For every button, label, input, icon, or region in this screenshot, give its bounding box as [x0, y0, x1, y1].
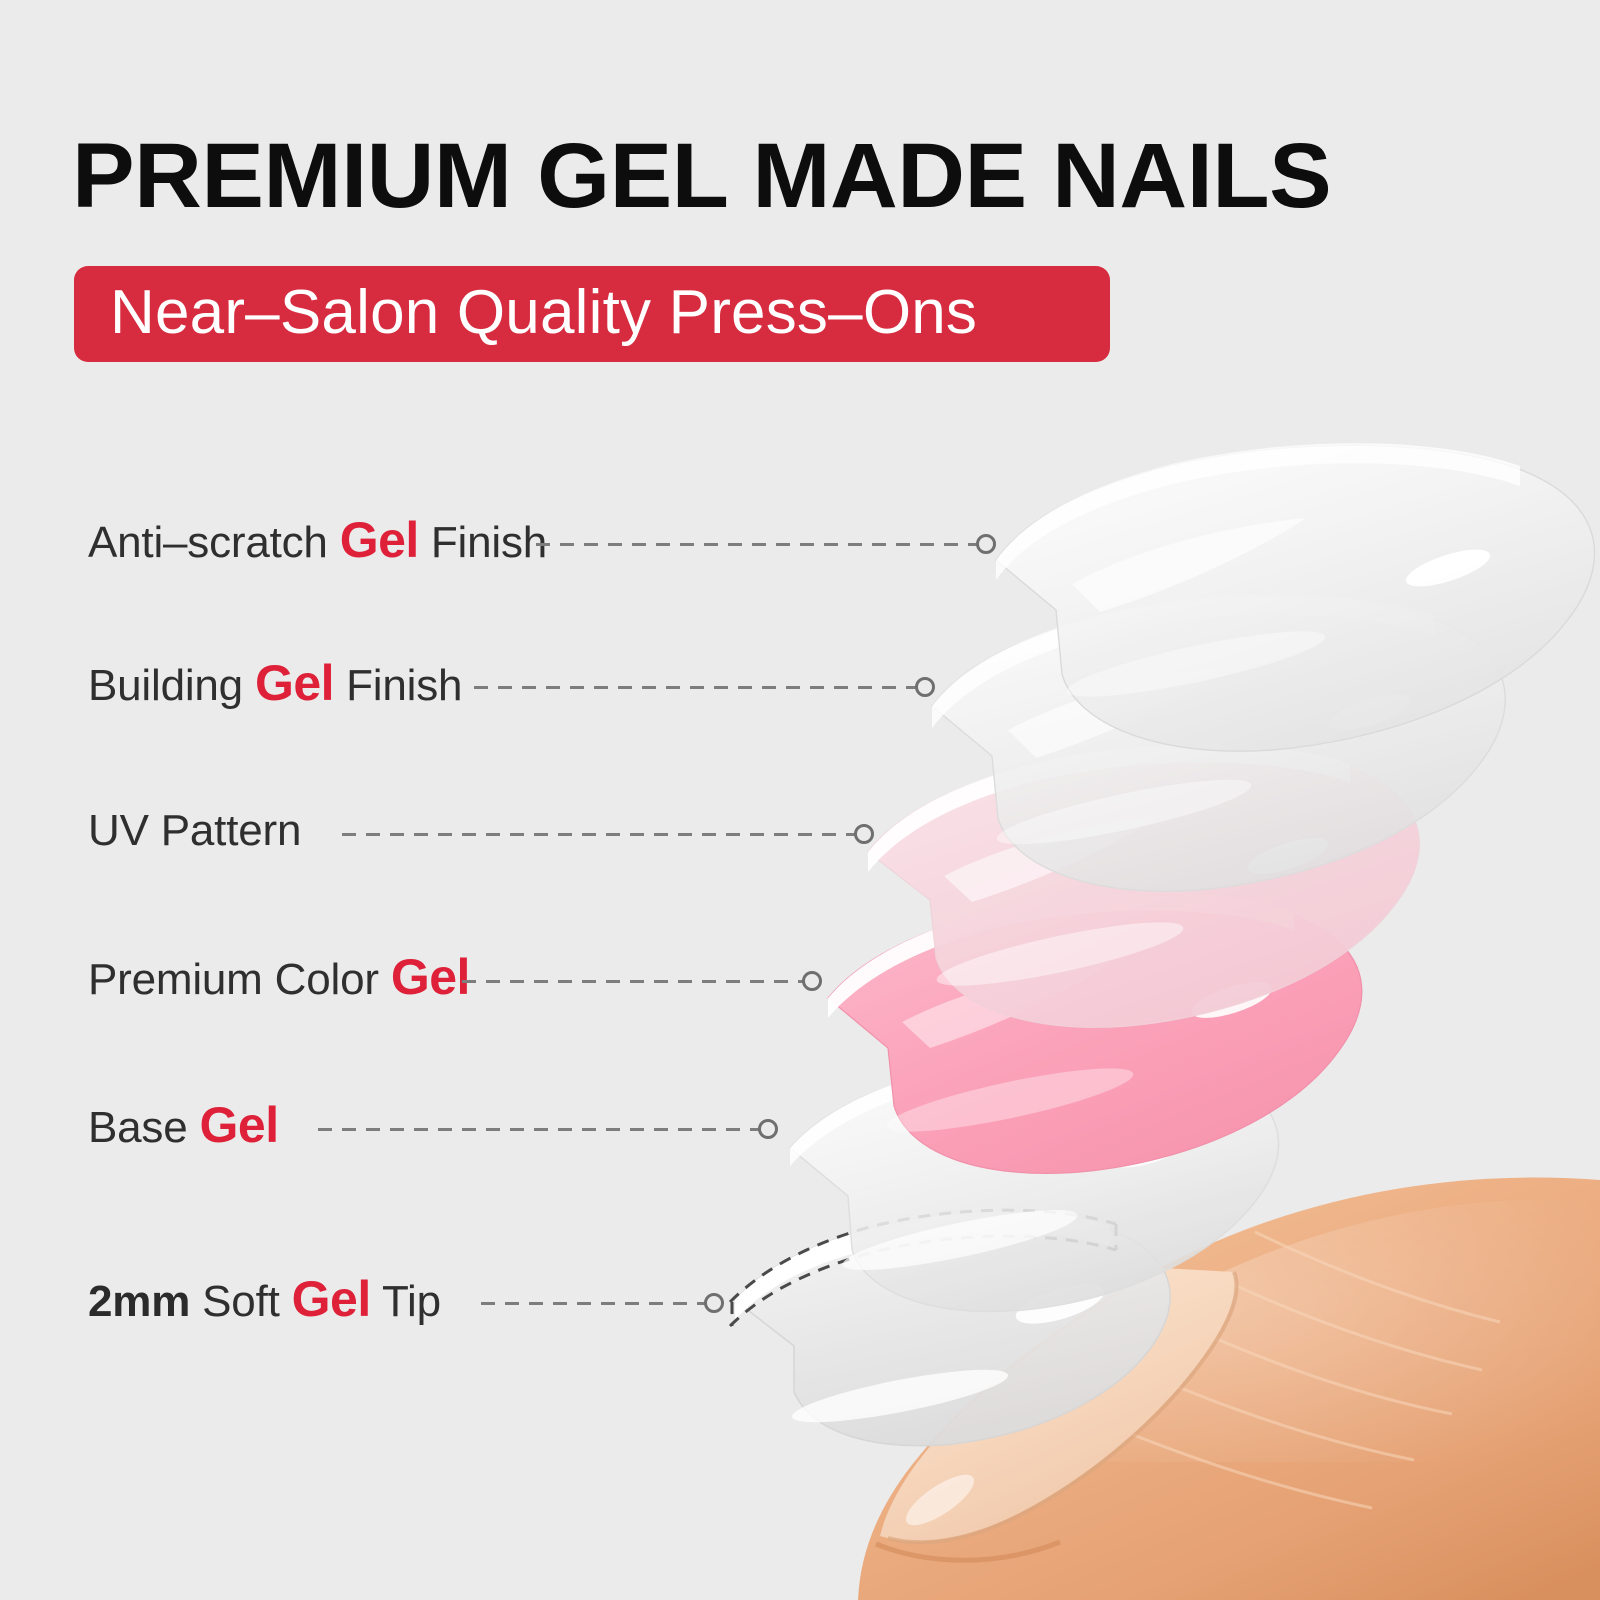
layer-premium-color-gel: [828, 893, 1362, 1174]
infographic-canvas: PREMIUM GEL MADE NAILS Near–Salon Qualit…: [0, 0, 1600, 1600]
label-part-regular: Tip: [371, 1277, 441, 1326]
leader-endpoint-soft-gel-tip: [704, 1293, 724, 1313]
layer-label-soft-gel-tip: 2mm Soft Gel Tip: [88, 1268, 441, 1332]
leader-line-building-gel: [474, 686, 917, 689]
label-part-regular: Finish: [419, 518, 547, 567]
label-part-gel: Gel: [340, 512, 419, 568]
label-part-gel: Gel: [255, 655, 334, 711]
leader-line-uv-pattern: [342, 833, 856, 836]
label-part-regular: Finish: [334, 661, 462, 710]
layer-label-text: Base Gel: [88, 1093, 279, 1160]
layer-anti-scratch-gel: [996, 443, 1595, 751]
leader-line-base-gel: [318, 1128, 760, 1131]
layer-label-base-gel: Base Gel: [88, 1094, 279, 1158]
leader-endpoint-uv-pattern: [854, 824, 874, 844]
layer-uv-pattern: [868, 745, 1419, 1028]
label-part-bold: 2mm: [88, 1277, 190, 1326]
layer-label-anti-scratch: Anti–scratch Gel Finish: [88, 509, 547, 573]
layer-label-text: 2mm Soft Gel Tip: [88, 1267, 441, 1334]
label-part-gel: Gel: [391, 949, 470, 1005]
leader-line-premium-color-gel: [462, 980, 804, 983]
label-part-regular: Anti–scratch: [88, 518, 340, 567]
layer-label-premium-color-gel: Premium Color Gel: [88, 946, 470, 1010]
leader-endpoint-base-gel: [758, 1119, 778, 1139]
label-part-gel: Gel: [292, 1271, 371, 1327]
label-part-regular: UV Pattern: [88, 806, 301, 855]
layer-label-text: Building Gel Finish: [88, 651, 462, 718]
layer-soft-gel-tip: [730, 1210, 1170, 1445]
subtitle-badge-label: Near–Salon Quality Press–Ons: [110, 266, 977, 362]
layer-building-gel: [932, 595, 1505, 891]
leader-line-anti-scratch: [536, 543, 978, 546]
leader-endpoint-building-gel: [915, 677, 935, 697]
subtitle-badge: Near–Salon Quality Press–Ons: [74, 266, 1110, 362]
layer-label-text: UV Pattern: [88, 799, 301, 863]
fingertip-photo: [858, 1178, 1600, 1600]
leader-endpoint-premium-color-gel: [802, 971, 822, 991]
label-part-regular: Premium Color: [88, 955, 391, 1004]
layer-label-uv-pattern: UV Pattern: [88, 799, 301, 863]
layer-label-text: Anti–scratch Gel Finish: [88, 508, 547, 575]
label-part-gel: Gel: [200, 1097, 279, 1153]
leader-line-soft-gel-tip: [481, 1302, 706, 1305]
page-title: PREMIUM GEL MADE NAILS: [72, 128, 1561, 224]
label-part-regular: Building: [88, 661, 255, 710]
layer-label-building-gel: Building Gel Finish: [88, 652, 462, 716]
layer-base-gel: [790, 1052, 1279, 1311]
label-part-regular: Soft: [190, 1277, 292, 1326]
leader-endpoint-anti-scratch: [976, 534, 996, 554]
layer-label-text: Premium Color Gel: [88, 945, 470, 1012]
label-part-regular: Base: [88, 1103, 200, 1152]
